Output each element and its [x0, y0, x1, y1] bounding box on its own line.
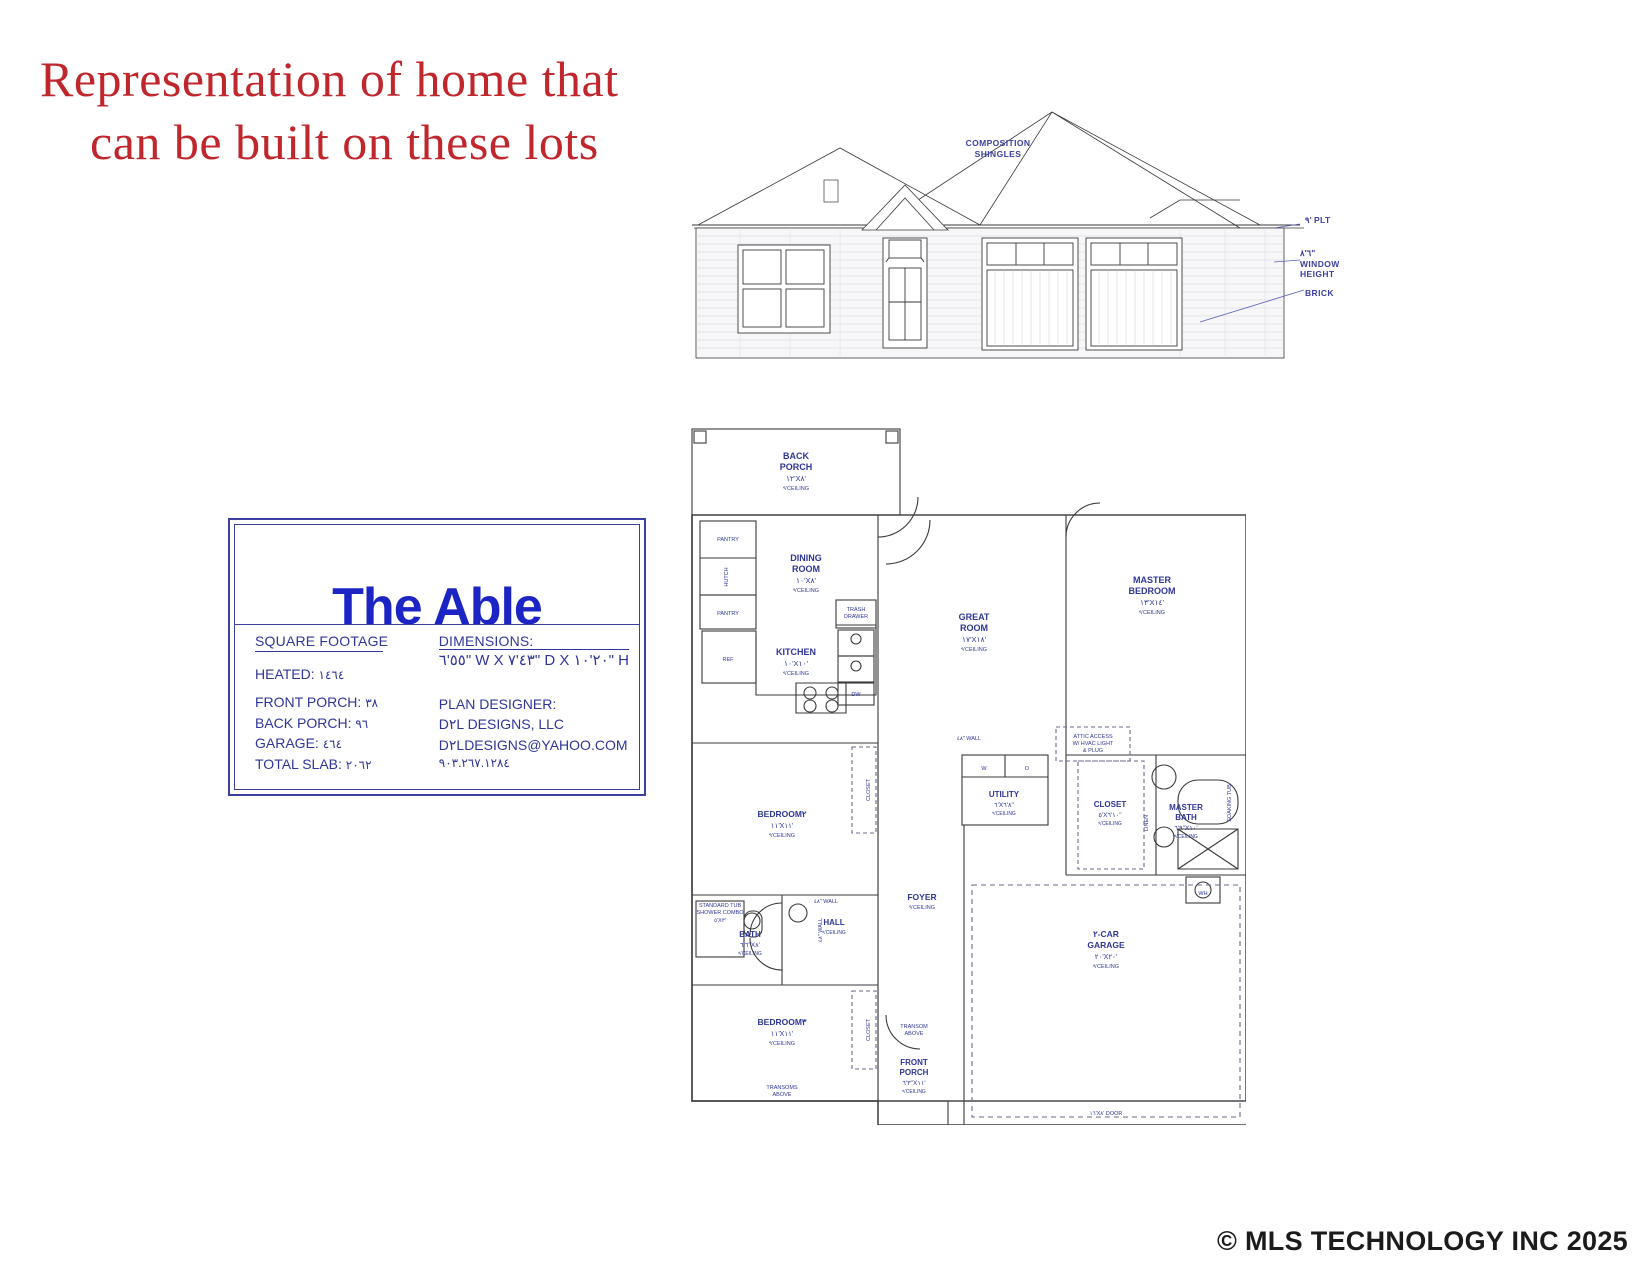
annotation-attic-access-3: & PLUG [1083, 748, 1103, 754]
room-label-bedroom-2: BEDROOM٢ ١١'X١١' ٩'CEILING [758, 809, 807, 839]
spec-row-back-porch: BACK PORCH: ٩٦ [255, 713, 439, 733]
svg-text:BEDROOM٢: BEDROOM٢ [758, 809, 807, 819]
dimensions-heading: DIMENSIONS: [439, 633, 629, 649]
room-label-foyer: FOYER ٩'CEILING [907, 892, 936, 911]
svg-text:٩'CEILING: ٩'CEILING [738, 951, 762, 957]
room-label-garage: ٢-CAR GARAGE ٢٠'X٢٠' ٩'CEILING [1087, 929, 1125, 970]
room-label-bath: BATH ٦'٦"X٨' ٩'CEILING [738, 930, 762, 957]
room-label-master-bath: MASTER BATH ٩'٦"X١٠' ٩'CEILING [1169, 803, 1203, 840]
room-label-great-room: GREAT ROOM ١٧'X١٨' ٩'CEILING [959, 612, 990, 653]
svg-text:٥'X١٠'٦": ٥'X١٠'٦" [1098, 812, 1122, 819]
svg-text:٦'X٨'٦": ٦'X٨'٦" [994, 802, 1014, 809]
svg-text:MASTER: MASTER [1133, 575, 1172, 585]
floor-plan-drawing: BACK PORCH ١٢'X٨' ٩'CEILING DINING ROOM … [686, 425, 1246, 1125]
room-label-dining-room: DINING ROOM ١٠'X٨' ٩'CEILING [790, 553, 822, 594]
annotation-dryer: D [1025, 766, 1029, 772]
svg-text:٩'CEILING: ٩'CEILING [783, 486, 809, 492]
annotation-dishwasher: DW [851, 692, 861, 698]
svg-text:٩'٦"X١٠': ٩'٦"X١٠' [1174, 825, 1197, 832]
plan-specs: SQUARE FOOTAGE HEATED: ١٤٦٤ FRONT PORCH:… [255, 633, 629, 774]
svg-text:UTILITY: UTILITY [989, 790, 1020, 799]
svg-text:ROOM: ROOM [792, 564, 820, 574]
annotation-linen: LINEN [1144, 815, 1150, 831]
svg-text:MASTER: MASTER [1169, 803, 1203, 812]
copyright-notice: © MLS TECHNOLOGY INC 2025 [1217, 1226, 1628, 1257]
label-plate-height: ٩' PLT [1305, 215, 1365, 226]
annotation-refrigerator: REF [723, 657, 735, 663]
spec-row-front-porch: FRONT PORCH: ٣٨ [255, 692, 439, 712]
annotation-water-heater: WH [1198, 891, 1207, 897]
annotation-closet-bed2: CLOSET [866, 778, 872, 801]
svg-text:FRONT: FRONT [900, 1058, 928, 1067]
svg-text:١١'X١١': ١١'X١١' [771, 823, 793, 830]
elevation-svg [680, 40, 1340, 380]
svg-text:٩'CEILING: ٩'CEILING [769, 1041, 795, 1047]
annotation-transoms-above-2: ABOVE [773, 1092, 792, 1098]
svg-text:٢٠'X٢٠': ٢٠'X٢٠' [1095, 954, 1117, 961]
svg-text:١٠'X١٠': ١٠'X١٠' [784, 659, 809, 668]
svg-text:PORCH: PORCH [780, 462, 813, 472]
room-label-master-bedroom: MASTER BEDROOM ١٣'X١٤' ٩'CEILING [1129, 575, 1176, 616]
page-title-line-1: Representation of home that [40, 51, 619, 107]
svg-text:١٣'X١٤': ١٣'X١٤' [1140, 598, 1165, 607]
svg-text:١١'X١١': ١١'X١١' [771, 1031, 793, 1038]
label-window-height: ٦'٨" WINDOW HEIGHT [1300, 248, 1370, 280]
room-label-bedroom-3: BEDROOM٣ ١١'X١١' ٩'CEILING [758, 1017, 807, 1047]
svg-text:٩'CEILING: ٩'CEILING [1139, 610, 1165, 616]
svg-text:٩'CEILING: ٩'CEILING [822, 930, 846, 936]
svg-text:٩'CEILING: ٩'CEILING [909, 905, 935, 911]
svg-text:٩'CEILING: ٩'CEILING [902, 1089, 926, 1095]
svg-text:١٧'X١٨': ١٧'X١٨' [962, 635, 987, 644]
svg-text:١٢'X٨': ١٢'X٨' [786, 474, 807, 483]
dimensions-column: DIMENSIONS: ٥٥'٦" W X ٤٣'٧" D X ٢٠'١٠" H… [439, 633, 629, 774]
designer-email: D٢LDESIGNS@YAHOO.COM [439, 735, 629, 755]
svg-text:GARAGE: GARAGE [1087, 940, 1125, 950]
svg-text:٩'CEILING: ٩'CEILING [783, 671, 809, 677]
label-composition-shingles: COMPOSITION SHINGLES [938, 138, 1058, 159]
label-brick: BRICK [1305, 288, 1365, 299]
svg-text:BACK: BACK [783, 451, 809, 461]
annotation-tub-shower-2: SHOWER COMBO [696, 910, 744, 916]
annotation-wall-48-c: ٤٨" WALL [818, 918, 824, 942]
plan-info-box: The Able SQUARE FOOTAGE HEATED: ١٤٦٤ FRO… [228, 518, 646, 796]
room-label-hall: HALL ٩'CEILING [822, 918, 846, 936]
annotation-washer: W [981, 766, 987, 772]
svg-text:PORCH: PORCH [900, 1068, 929, 1077]
svg-text:٩'CEILING: ٩'CEILING [992, 811, 1016, 817]
annotation-transom-above-1: TRANSOM [900, 1024, 928, 1030]
designer-company: D٢L DESIGNS, LLC [439, 714, 629, 734]
annotation-attic-access-2: W/ HVAC LIGHT [1073, 741, 1114, 747]
annotation-transoms-above-1: TRANSOMS [766, 1085, 798, 1091]
annotation-pantry-upper: PANTRY [717, 537, 739, 543]
svg-text:DINING: DINING [790, 553, 822, 563]
annotation-closet-bed3: CLOSET [866, 1018, 872, 1041]
svg-text:٩'CEILING: ٩'CEILING [1098, 821, 1122, 827]
svg-text:BATH: BATH [1175, 813, 1197, 822]
svg-text:٦'٦"X٨': ٦'٦"X٨' [740, 942, 760, 949]
svg-text:HALL: HALL [823, 918, 844, 927]
dimensions-value: ٥٥'٦" W X ٤٣'٧" D X ٢٠'١٠" H [439, 649, 629, 669]
page-title: Representation of home that can be built… [40, 48, 780, 173]
svg-text:GREAT: GREAT [959, 612, 990, 622]
square-footage-column: SQUARE FOOTAGE HEATED: ١٤٦٤ FRONT PORCH:… [255, 633, 439, 774]
svg-text:ROOM: ROOM [960, 623, 988, 633]
room-label-kitchen: KITCHEN ١٠'X١٠' ٩'CEILING [776, 647, 816, 677]
svg-text:٩'CEILING: ٩'CEILING [961, 647, 987, 653]
svg-text:CLOSET: CLOSET [1094, 800, 1127, 809]
room-label-back-porch: BACK PORCH ١٢'X٨' ٩'CEILING [780, 451, 813, 492]
svg-text:٩'CEILING: ٩'CEILING [1174, 834, 1198, 840]
annotation-wall-48-a: ٤٨" WALL [957, 736, 981, 742]
svg-text:٢-CAR: ٢-CAR [1093, 929, 1119, 939]
annotation-trash-drawer-2: DRAWER [844, 614, 868, 620]
designer-heading: PLAN DESIGNER: [439, 694, 629, 714]
page-title-line-2: can be built on these lots [40, 111, 780, 174]
annotation-pantry-lower: PANTRY [717, 611, 739, 617]
annotation-trash-drawer-1: TRASH [847, 607, 866, 613]
square-footage-rule [255, 651, 383, 652]
svg-text:٣'٦"X١١': ٣'٦"X١١' [902, 1080, 925, 1087]
room-label-front-porch: FRONT PORCH ٣'٦"X١١' ٩'CEILING [900, 1058, 929, 1095]
annotation-wall-48-b: ٤٨" WALL [814, 899, 838, 905]
square-footage-heading: SQUARE FOOTAGE [255, 633, 439, 649]
room-label-closet: CLOSET ٥'X١٠'٦" ٩'CEILING [1094, 800, 1127, 827]
annotation-tub-shower-size: ٥'X٣' [714, 918, 726, 924]
annotation-soaking-tub: SOAKING TUB [1227, 784, 1233, 822]
front-elevation-drawing: COMPOSITION SHINGLES ٩' PLT ٦'٨" WINDOW … [680, 40, 1340, 380]
plan-name: The Able [235, 581, 639, 633]
svg-text:KITCHEN: KITCHEN [776, 647, 816, 657]
svg-text:BATH: BATH [739, 930, 761, 939]
annotation-transom-above-2: ABOVE [905, 1031, 924, 1037]
plan-info-inner-border: The Able SQUARE FOOTAGE HEATED: ١٤٦٤ FRO… [234, 524, 640, 790]
designer-phone: ٩٠٣.٢٦٧.١٢٨٤ [439, 755, 629, 772]
annotation-attic-access-1: ATTIC ACCESS [1073, 734, 1113, 740]
annotation-tub-shower-1: STANDARD TUB [699, 903, 742, 909]
svg-text:٩'CEILING: ٩'CEILING [793, 588, 819, 594]
svg-text:BEDROOM٣: BEDROOM٣ [758, 1017, 807, 1027]
svg-text:٩'CEILING: ٩'CEILING [1093, 964, 1119, 970]
title-divider [235, 624, 639, 625]
svg-text:٩'CEILING: ٩'CEILING [769, 833, 795, 839]
spec-row-heated: HEATED: ١٤٦٤ [255, 664, 439, 684]
room-label-utility: UTILITY ٦'X٨'٦" ٩'CEILING [989, 790, 1020, 817]
spec-row-garage: GARAGE: ٤٦٤ [255, 733, 439, 753]
annotation-garage-door: ١٦'X٨' DOOR [1090, 1111, 1123, 1117]
svg-text:١٠'X٨': ١٠'X٨' [796, 576, 817, 585]
spec-row-total-slab: TOTAL SLAB: ٢٠٦٢ [255, 754, 439, 774]
svg-text:BEDROOM: BEDROOM [1129, 586, 1176, 596]
annotation-hutch: HUTCH [724, 567, 730, 586]
svg-text:FOYER: FOYER [907, 892, 936, 902]
floor-plan-svg: BACK PORCH ١٢'X٨' ٩'CEILING DINING ROOM … [686, 425, 1246, 1125]
